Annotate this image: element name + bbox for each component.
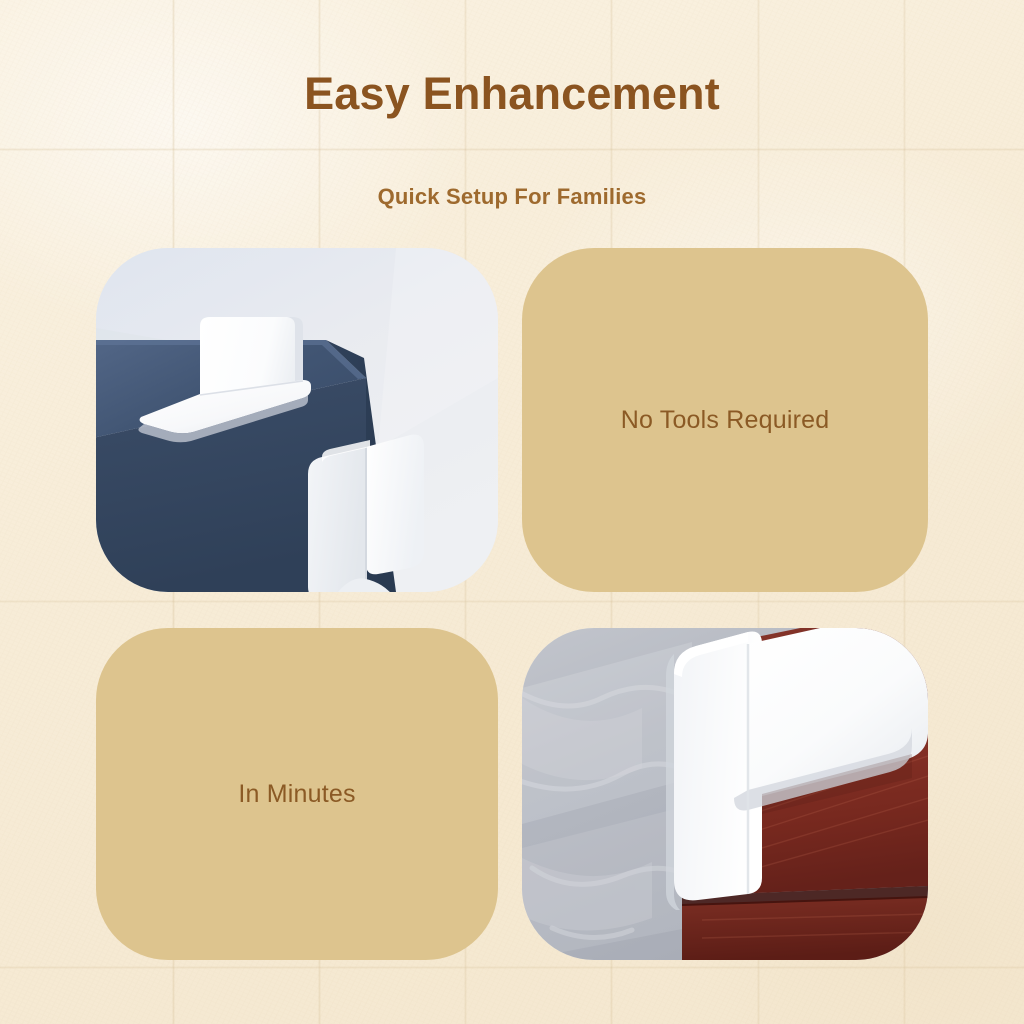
navy-table-illustration [96, 248, 498, 592]
page-title: Easy Enhancement [0, 68, 1024, 120]
feature-card-label: No Tools Required [597, 406, 854, 435]
photo-card-navy-table-corner [96, 248, 498, 592]
mahogany-cabinet-illustration [522, 628, 928, 960]
feature-card-in-minutes: In Minutes [96, 628, 498, 960]
page-subtitle: Quick Setup For Families [0, 184, 1024, 210]
poster-canvas: Easy Enhancement Quick Setup For Familie… [0, 0, 1024, 1024]
feature-card-label: In Minutes [214, 780, 379, 809]
photo-card-mahogany-cabinet-corner [522, 628, 928, 960]
feature-card-no-tools-required: No Tools Required [522, 248, 928, 592]
